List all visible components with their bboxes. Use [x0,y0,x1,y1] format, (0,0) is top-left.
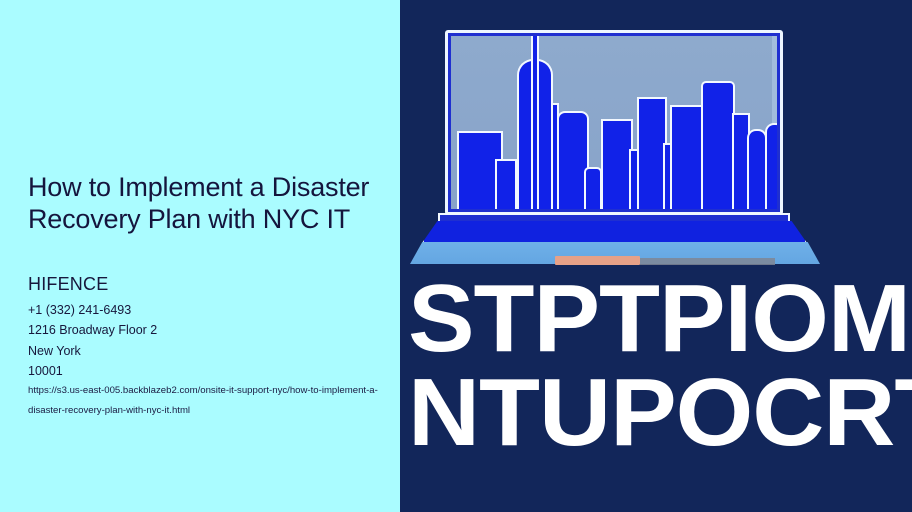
headline-text: STPTPIOM NTUPOCRT [408,272,912,460]
right-graphic-panel: STPTPIOM NTUPOCRT [400,0,912,512]
contact-phone: +1 (332) 241-6493 [28,300,378,320]
laptop-lid [445,30,783,215]
left-info-panel: How to Implement a Disaster Recovery Pla… [0,0,400,512]
laptop-trackpad [555,256,640,265]
laptop-keyboard-deck [422,221,807,243]
page-title: How to Implement a Disaster Recovery Pla… [28,172,388,235]
contact-street: 1216 Broadway Floor 2 [28,320,378,340]
laptop-base-shadow [640,258,775,265]
contact-zip: 10001 [28,361,378,381]
contact-block: +1 (332) 241-6493 1216 Broadway Floor 2 … [28,300,378,381]
headline-line-2: NTUPOCRT [408,366,912,460]
nyc-skyline-icon [451,59,777,209]
organization-name: HIFENCE [28,274,108,295]
poster-canvas: How to Implement a Disaster Recovery Pla… [0,0,912,512]
contact-city: New York [28,341,378,361]
headline-line-1: STPTPIOM [408,272,912,366]
article-url[interactable]: https://s3.us-east-005.backblazeb2.com/o… [28,381,380,422]
laptop-icon [400,0,912,290]
laptop-screen [451,36,777,209]
